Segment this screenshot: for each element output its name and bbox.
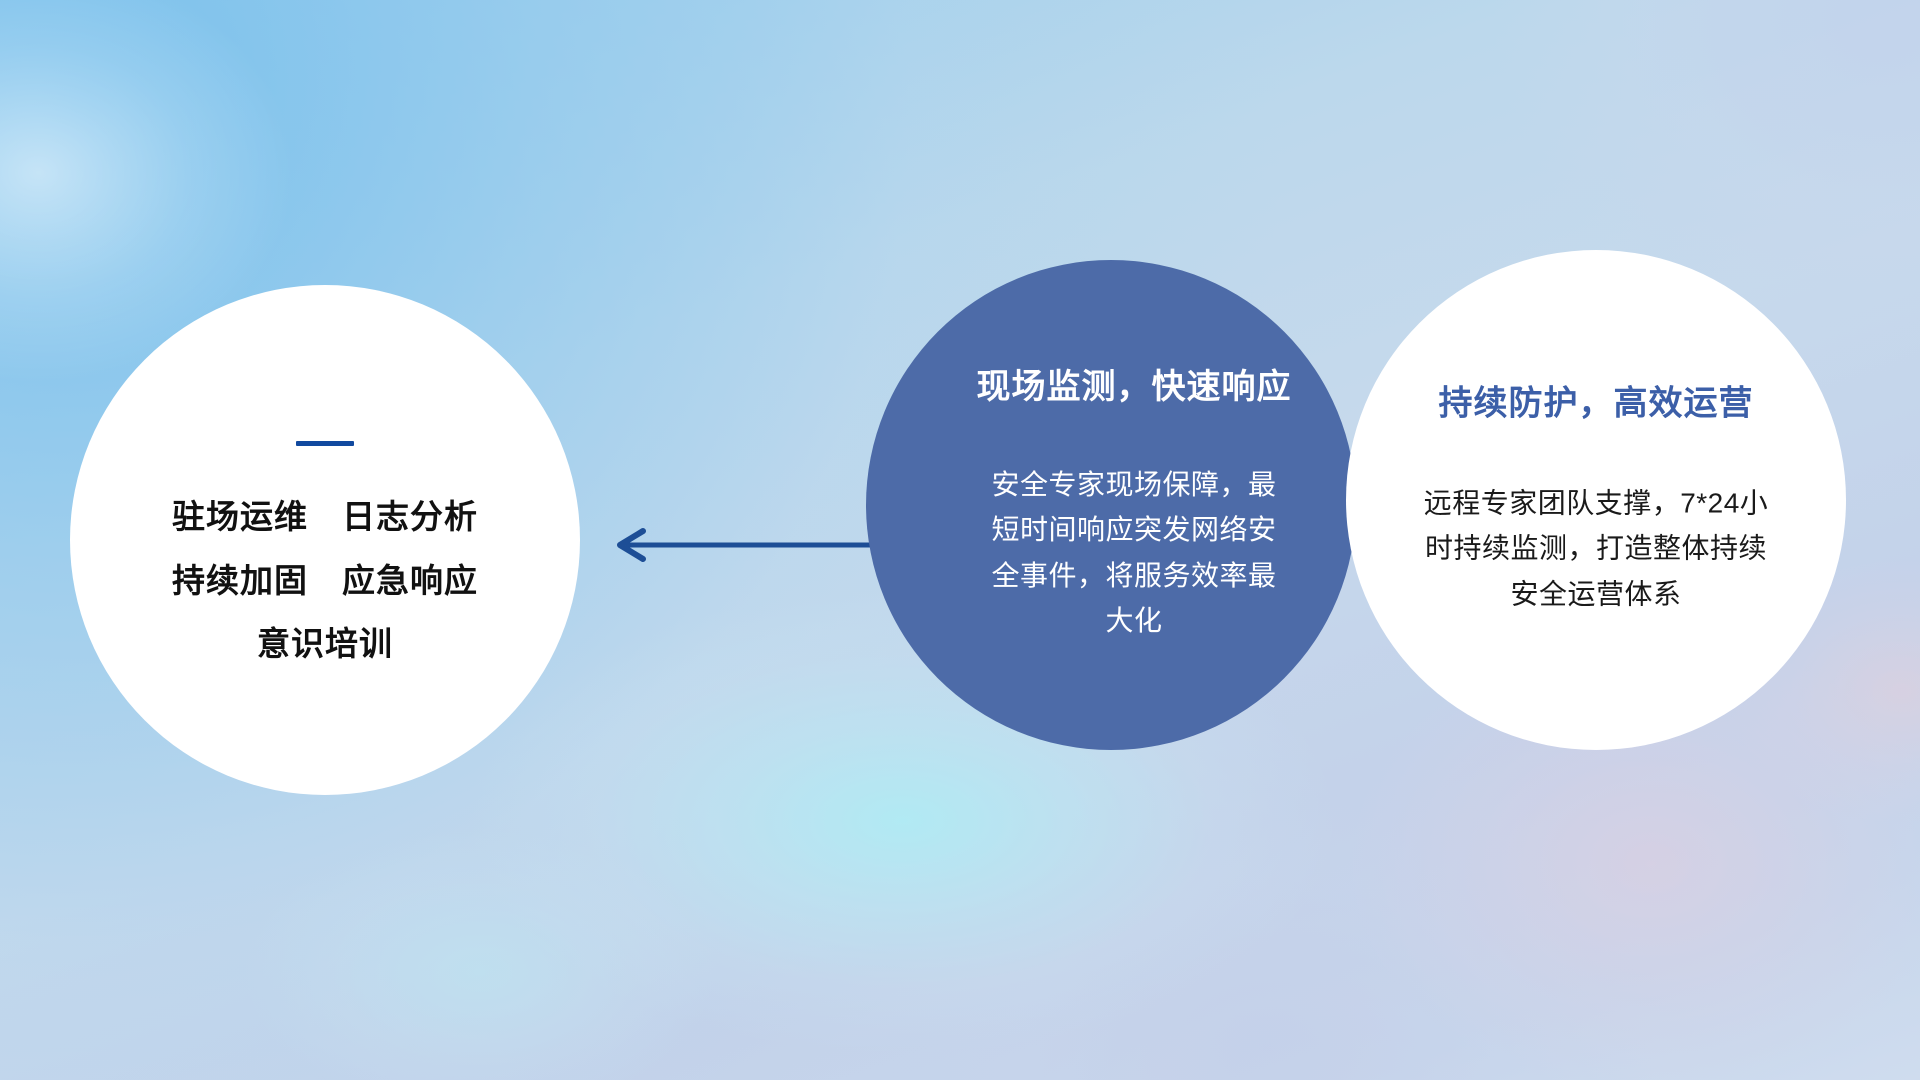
capability-tag-row: 持续加固 应急响应 [172,562,478,600]
flow-arrow-left-icon [600,505,890,585]
left-capability-circle[interactable]: 驻场运维 日志分析 持续加固 应急响应 意识培训 [70,285,580,795]
right-circle-title: 持续防护，高效运营 [1381,384,1811,425]
left-circle-content: 驻场运维 日志分析 持续加固 应急响应 意识培训 [70,285,580,795]
right-operations-circle[interactable]: 持续防护，高效运营 远程专家团队支撑，7*24小时持续监测，打造整体持续安全运营… [1346,250,1846,750]
middle-circle-title: 现场监测，快速响应 [947,367,1321,408]
capability-tag-row: 意识培训 [257,625,393,663]
capability-tag: 驻场运维 [172,498,308,536]
capability-tag-row: 驻场运维 日志分析 [172,498,478,536]
right-circle-body: 远程专家团队支撑，7*24小时持续监测，打造整体持续安全运营体系 [1411,480,1781,616]
middle-onsite-circle[interactable]: 现场监测，快速响应 安全专家现场保障，最短时间响应突发网络安全事件，将服务效率最… [866,260,1356,750]
middle-circle-body: 安全专家现场保障，最短时间响应突发网络安全事件，将服务效率最大化 [979,462,1289,643]
capability-tag: 应急响应 [342,562,478,600]
slide-canvas: 驻场运维 日志分析 持续加固 应急响应 意识培训 现场监测，快速响应 安全专家现… [0,0,1920,1080]
blue-divider-dash [296,441,354,446]
capability-tag: 意识培训 [257,625,393,663]
capability-tag: 日志分析 [342,498,478,536]
capability-tag: 持续加固 [172,562,308,600]
right-circle-content: 持续防护，高效运营 远程专家团队支撑，7*24小时持续监测，打造整体持续安全运营… [1381,384,1811,617]
middle-circle-content: 现场监测，快速响应 安全专家现场保障，最短时间响应突发网络安全事件，将服务效率最… [901,367,1321,643]
